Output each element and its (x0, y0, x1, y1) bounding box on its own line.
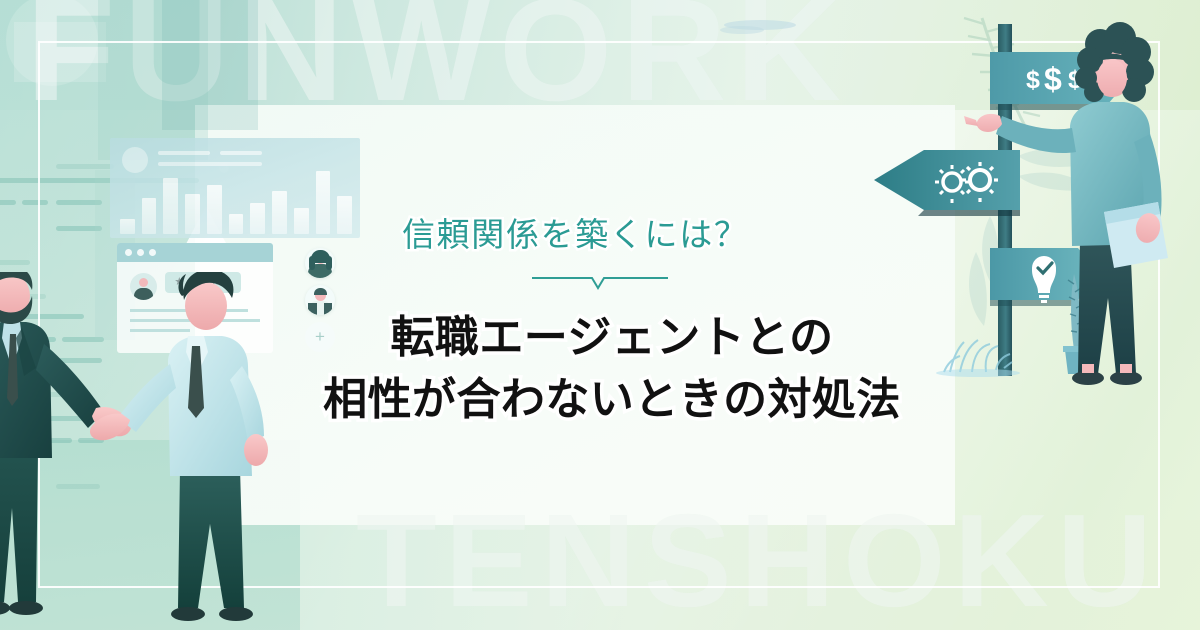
analytics-dashboard-panel (110, 138, 360, 238)
card-title-bar (117, 243, 273, 262)
page-title: 転職エージェントとの 相性が合わないときの対処法 (272, 307, 952, 432)
dashboard-text-line (158, 162, 262, 166)
window-dot-icon (149, 249, 156, 256)
chart-bar (337, 196, 352, 234)
hero-subtitle: 信頼関係を築くには？ (402, 208, 749, 256)
svg-text:$: $ (1026, 66, 1040, 94)
chart-bar (185, 194, 200, 234)
dashboard-text-line (220, 151, 262, 155)
svg-text:$: $ (1044, 61, 1062, 97)
page-title-line-1: 転職エージェントとの (272, 307, 952, 369)
bearded-man-in-suit (0, 272, 131, 615)
chart-bar (316, 171, 331, 234)
chart-bar (207, 185, 222, 235)
thumbnail-canvas: FUNWORK TENSHOKU FUNWORK TENSHOKU (0, 0, 1200, 630)
bar-chart (120, 168, 352, 234)
page-title-line-2: 相性が合わないときの対処法 (272, 369, 952, 431)
chart-bar (272, 191, 287, 234)
young-man-in-shirt (90, 272, 268, 621)
two-businessmen-handshake (0, 272, 292, 630)
chart-bar (294, 208, 309, 234)
avatar-woman[interactable] (305, 248, 335, 278)
chart-bar (250, 203, 265, 234)
chart-bar (229, 214, 244, 234)
chart-bar (142, 198, 157, 234)
window-dot-icon (125, 249, 132, 256)
chevron-down-divider (532, 272, 668, 292)
chart-bar (120, 219, 135, 234)
window-dot-icon (137, 249, 144, 256)
signpost-gears (874, 150, 1020, 216)
dashboard-text-line (158, 151, 210, 155)
chart-bar (163, 178, 178, 234)
